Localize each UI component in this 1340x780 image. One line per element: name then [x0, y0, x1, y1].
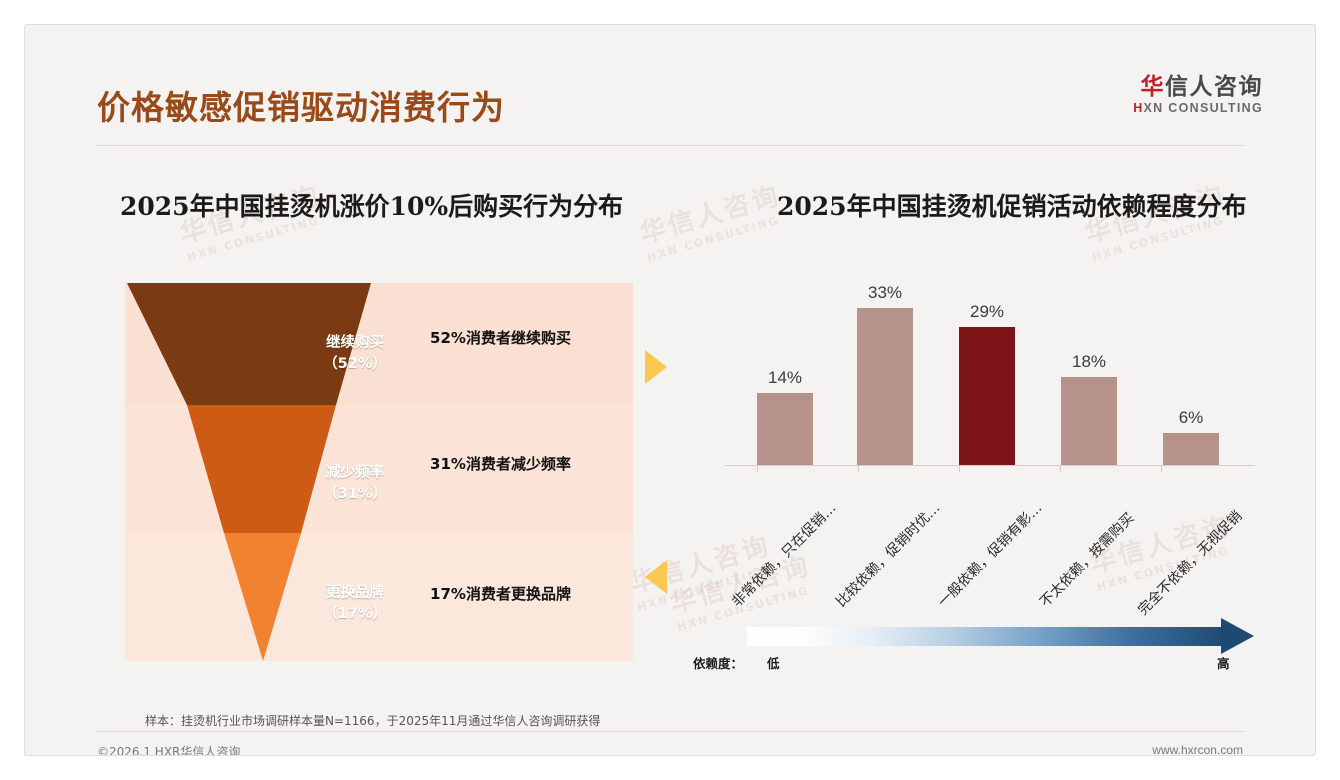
page-title: 价格敏感促销驱动消费行为 — [97, 81, 505, 129]
watermark-cn: 华信人咨询 — [635, 175, 785, 251]
logo-en-accent: H — [1133, 101, 1143, 115]
x-axis-label: 完全不依赖，无视促销 — [1133, 506, 1246, 619]
x-axis-line — [725, 465, 1255, 466]
bar-column: 18% — [1039, 352, 1139, 465]
legend-key-label: 依赖度： — [693, 653, 743, 672]
bar-column: 33% — [835, 283, 935, 465]
bar-rect — [857, 308, 913, 465]
bar-rect — [1061, 377, 1117, 465]
bar-column: 6% — [1141, 408, 1241, 465]
funnel-chart: 52%消费者继续购买 31%消费者减少频率 17%消费者更换品牌 继续购买 （5… — [125, 283, 633, 661]
brand-logo: 华信人咨询 HXN CONSULTING — [1133, 73, 1263, 115]
gradient-arrow-head-icon — [1221, 618, 1254, 654]
logo-cn-accent: 华 — [1141, 73, 1166, 99]
bar-column: 14% — [735, 368, 835, 465]
bar-column: 29% — [937, 302, 1037, 465]
logo-en: HXN CONSULTING — [1133, 101, 1263, 115]
x-axis-label: 不太依赖，按需购买 — [1035, 508, 1138, 611]
logo-cn-rest: 信人咨询 — [1165, 73, 1263, 99]
legend-high-label: 高 — [1217, 653, 1230, 672]
copyright-text: ©2026.1 HXR华信人咨询 — [97, 743, 240, 756]
right-chart-title: 2025年中国挂烫机促销活动依赖程度分布 — [777, 187, 1247, 223]
funnel-segment-1 — [127, 283, 371, 405]
bar-value-label: 14% — [768, 368, 802, 388]
axis-tick — [1060, 465, 1061, 472]
bar-chart: 14% 33% 29% 18% 6% — [725, 283, 1255, 465]
website-url[interactable]: www.hxrcon.com — [1152, 743, 1243, 756]
logo-en-rest: XN CONSULTING — [1144, 101, 1263, 115]
sample-note: 样本：挂烫机行业市场调研样本量N=1166，于2025年11月通过华信人咨询调研… — [145, 712, 600, 729]
bar-value-label: 33% — [868, 283, 902, 303]
bar-value-label: 18% — [1072, 352, 1106, 372]
slide-canvas: 华信人咨询 HXN CONSULTING 华信人咨询 HXN CONSULTIN… — [24, 24, 1316, 756]
bar-value-label: 29% — [970, 302, 1004, 322]
axis-tick — [757, 465, 758, 472]
axis-tick — [959, 465, 960, 472]
dependency-legend: 依赖度： 低 高 — [725, 623, 1255, 673]
triangle-left-icon — [645, 560, 667, 594]
bar-rect-highlight — [959, 327, 1015, 465]
x-axis-label: 一般依赖，促销有影… — [933, 498, 1046, 611]
header-divider — [97, 145, 1245, 146]
axis-tick — [1161, 465, 1162, 472]
x-axis-label: 比较依赖，促销时优… — [831, 498, 944, 611]
bar-value-label: 6% — [1179, 408, 1204, 428]
funnel-segment-2 — [187, 405, 336, 533]
triangle-right-icon — [645, 350, 667, 384]
funnel-shape — [125, 283, 633, 661]
logo-cn: 华信人咨询 — [1133, 73, 1263, 99]
left-chart-title: 2025年中国挂烫机涨价10%后购买行为分布 — [120, 187, 623, 223]
axis-tick — [858, 465, 859, 472]
gradient-bar — [747, 627, 1225, 646]
watermark-en: HXN CONSULTING — [645, 212, 788, 264]
funnel-segment-3 — [224, 533, 301, 661]
bar-rect — [1163, 433, 1219, 465]
bar-rect — [757, 393, 813, 465]
x-axis-label: 非常依赖，只在促销… — [727, 498, 840, 611]
legend-low-label: 低 — [767, 653, 780, 672]
watermark: 华信人咨询 HXN CONSULTING — [635, 175, 788, 264]
footer-divider — [97, 731, 1245, 732]
